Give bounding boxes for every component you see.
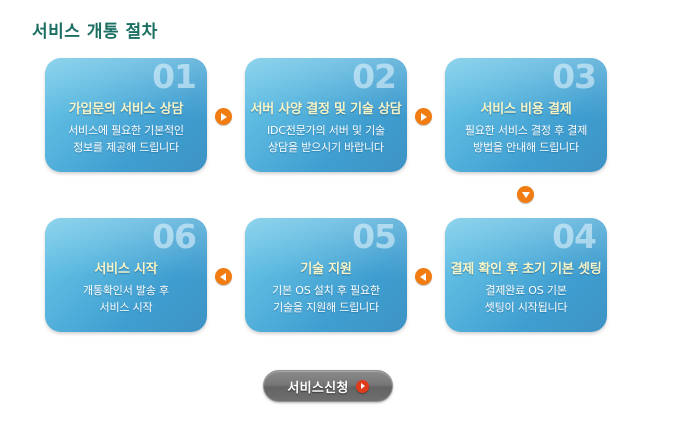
- step-card-04[interactable]: 04 결제 확인 후 초기 기본 셋팅 결제완료 OS 기본 셋팅이 시작됩니다: [445, 218, 607, 332]
- step-description-line: 서비스에 필요한 기본적인: [45, 122, 207, 139]
- step-description-line: IDC전문가의 서버 및 기술: [245, 122, 407, 139]
- arrow-left-icon: [215, 268, 232, 285]
- step-description-line: 서비스 시작: [45, 299, 207, 316]
- step-title-01: 가입문의 서비스 상담: [45, 98, 207, 117]
- page-title: 서비스 개통 절차: [32, 17, 158, 42]
- step-number-05: 05: [352, 220, 396, 253]
- step-description-line: 기술을 지원해 드립니다: [245, 299, 407, 316]
- step-card-01[interactable]: 01 가입문의 서비스 상담 서비스에 필요한 기본적인 정보를 제공해 드립니…: [45, 58, 207, 172]
- step-card-06[interactable]: 06 서비스 시작 개통확인서 발송 후 서비스 시작: [45, 218, 207, 332]
- step-description-03: 필요한 서비스 결정 후 결제 방법을 안내해 드립니다: [445, 122, 607, 156]
- step-description-04: 결제완료 OS 기본 셋팅이 시작됩니다: [445, 282, 607, 316]
- step-title-05: 기술 지원: [245, 258, 407, 277]
- step-description-01: 서비스에 필요한 기본적인 정보를 제공해 드립니다: [45, 122, 207, 156]
- step-number-01: 01: [152, 60, 196, 93]
- step-description-line: 필요한 서비스 결정 후 결제: [445, 122, 607, 139]
- step-description-line: 셋팅이 시작됩니다: [445, 299, 607, 316]
- arrow-left-icon: [415, 268, 432, 285]
- arrow-right-icon: [215, 108, 232, 125]
- step-description-line: 상담을 받으시기 바랍니다: [245, 139, 407, 156]
- service-apply-button[interactable]: 서비스신청: [263, 370, 393, 402]
- step-title-06: 서비스 시작: [45, 258, 207, 277]
- step-number-06: 06: [152, 220, 196, 253]
- step-title-02: 서버 사양 결정 및 기술 상담: [245, 98, 407, 117]
- step-description-line: 정보를 제공해 드립니다: [45, 139, 207, 156]
- step-title-04: 결제 확인 후 초기 기본 셋팅: [445, 258, 607, 277]
- step-number-04: 04: [552, 220, 596, 253]
- step-card-03[interactable]: 03 서비스 비용 결제 필요한 서비스 결정 후 결제 방법을 안내해 드립니…: [445, 58, 607, 172]
- step-description-line: 개통확인서 발송 후: [45, 282, 207, 299]
- step-description-06: 개통확인서 발송 후 서비스 시작: [45, 282, 207, 316]
- step-title-03: 서비스 비용 결제: [445, 98, 607, 117]
- step-description-02: IDC전문가의 서버 및 기술 상담을 받으시기 바랍니다: [245, 122, 407, 156]
- step-number-03: 03: [552, 60, 596, 93]
- step-card-05[interactable]: 05 기술 지원 기본 OS 설치 후 필요한 기술을 지원해 드립니다: [245, 218, 407, 332]
- step-description-line: 결제완료 OS 기본: [445, 282, 607, 299]
- arrow-down-icon: [517, 186, 534, 203]
- arrow-right-icon: [415, 108, 432, 125]
- step-description-line: 기본 OS 설치 후 필요한: [245, 282, 407, 299]
- step-description-05: 기본 OS 설치 후 필요한 기술을 지원해 드립니다: [245, 282, 407, 316]
- step-number-02: 02: [352, 60, 396, 93]
- service-apply-button-label: 서비스신청: [287, 377, 348, 396]
- service-process-page: 서비스 개통 절차 01 가입문의 서비스 상담 서비스에 필요한 기본적인 정…: [0, 0, 680, 445]
- play-arrow-icon: [356, 380, 369, 393]
- step-card-02[interactable]: 02 서버 사양 결정 및 기술 상담 IDC전문가의 서버 및 기술 상담을 …: [245, 58, 407, 172]
- step-description-line: 방법을 안내해 드립니다: [445, 139, 607, 156]
